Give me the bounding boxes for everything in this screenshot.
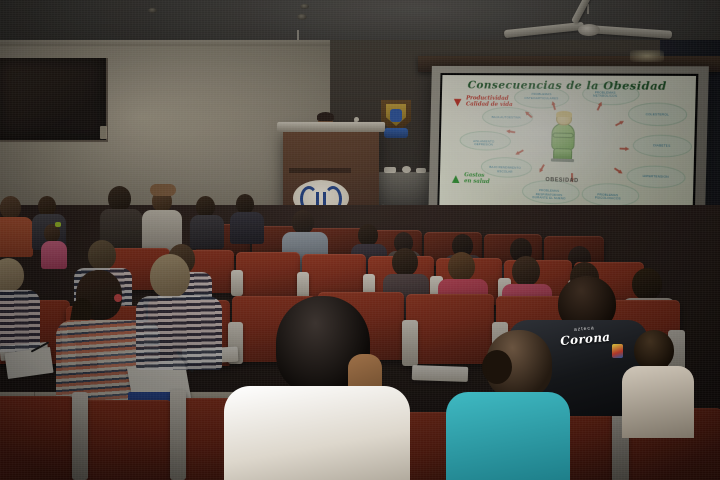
torso (446, 392, 570, 480)
hair-bun (482, 350, 512, 384)
torso (622, 366, 694, 438)
screen-border: Consecuencias de la Obesidad ▼ Productiv… (437, 73, 698, 222)
slide-node-label: AISLAMIENTO DEPRESION (465, 140, 503, 148)
head (196, 196, 215, 217)
jersey-crest-icon (612, 344, 623, 358)
head (88, 240, 116, 270)
slide-node-layer: PROBLEMAS OSTEOARTICULARESPROBLEMAS META… (442, 75, 696, 76)
torso (230, 212, 264, 244)
figure-base (551, 158, 574, 162)
recessed-light-6 (297, 14, 307, 20)
torso (190, 215, 224, 249)
recessed-light-1 (148, 8, 157, 13)
slide-arrow-icon (506, 129, 516, 135)
slide-kpi-health-cost-label: Gastos en salud (464, 172, 490, 185)
hair-clip-icon (55, 222, 61, 227)
armrest (297, 272, 309, 299)
armrest (231, 270, 243, 296)
figure-hair (556, 110, 572, 116)
figure-arms (553, 132, 574, 138)
head (512, 256, 540, 286)
hair-tie-icon (114, 294, 122, 302)
plaque-emblem (390, 109, 402, 122)
clasped-hands (150, 184, 176, 196)
head (632, 268, 662, 300)
table-item-2 (402, 166, 411, 173)
slide-node-label: PROBLEMAS OSTEOARTICULARES (522, 93, 562, 100)
side-table (378, 172, 434, 206)
head (358, 224, 378, 246)
head (634, 330, 674, 370)
head (236, 194, 254, 214)
head (38, 196, 56, 216)
table-item-1 (384, 167, 396, 173)
seat[interactable] (406, 294, 494, 364)
head (392, 248, 418, 276)
torso (136, 296, 222, 370)
slide-arrow-icon (538, 163, 546, 173)
lectern-nameplate (289, 168, 351, 173)
slide-node-label: PROBLEMAS RESPIRATORIOS DURANTE EL SUENO (529, 189, 569, 201)
torso (224, 386, 410, 480)
head (150, 254, 190, 298)
slide-node-label: PROBLEMAS METABOLICOS (585, 91, 626, 99)
table-item-3 (416, 168, 426, 173)
light-switch[interactable] (100, 126, 107, 139)
seat[interactable] (236, 252, 300, 296)
slide-surface: Consecuencias de la Obesidad ▼ Productiv… (439, 75, 696, 220)
head (292, 210, 314, 234)
slide-kpi-productivity-label: Productividad Calidad de vida (466, 96, 513, 109)
seat[interactable] (78, 400, 174, 480)
auditorium-photo: Consecuencias de la Obesidad ▼ Productiv… (0, 0, 720, 480)
slide-node-label: BAJO RENDIMIENTO ESCOLAR (486, 166, 525, 174)
doorway[interactable] (0, 58, 108, 142)
slide-node-label: COLESTEROL (636, 113, 678, 117)
head (448, 252, 475, 281)
plaque-base (384, 128, 408, 138)
slide-kpi-productivity: ▼ Productividad Calidad de vida (451, 95, 513, 109)
slide-arrow-icon (619, 146, 629, 151)
lectern-top (277, 122, 385, 132)
slide-arrow-icon (515, 149, 525, 157)
armrest (402, 320, 418, 366)
seat[interactable] (0, 396, 76, 480)
coat-of-arms-plaque (381, 100, 411, 140)
slide-kpi-health-cost: ▲ Gastos en salud (449, 171, 490, 186)
slide-arrow-icon (614, 119, 625, 127)
writing-tablet[interactable] (412, 365, 468, 382)
head (108, 186, 131, 211)
slide-node-label: BAJA AUTOESTIMA (487, 116, 526, 120)
torso (0, 290, 40, 352)
head (0, 196, 21, 219)
torso (0, 217, 33, 257)
presenter-hair (317, 112, 334, 121)
slide-title: Consecuencias de la Obesidad (454, 79, 682, 93)
down-arrow-icon: ▼ (451, 95, 464, 108)
up-arrow-icon: ▲ (449, 171, 462, 185)
projector-glow (630, 50, 664, 62)
obesity-figure-illustration (549, 111, 578, 162)
slide-arrow-icon (613, 166, 624, 175)
torso (41, 241, 67, 269)
slide-center-label: OBESIDAD (545, 177, 578, 184)
recessed-light-2 (300, 4, 309, 9)
armrest (72, 392, 88, 480)
armrest (170, 390, 186, 480)
ceiling-fan-right (514, 4, 664, 38)
